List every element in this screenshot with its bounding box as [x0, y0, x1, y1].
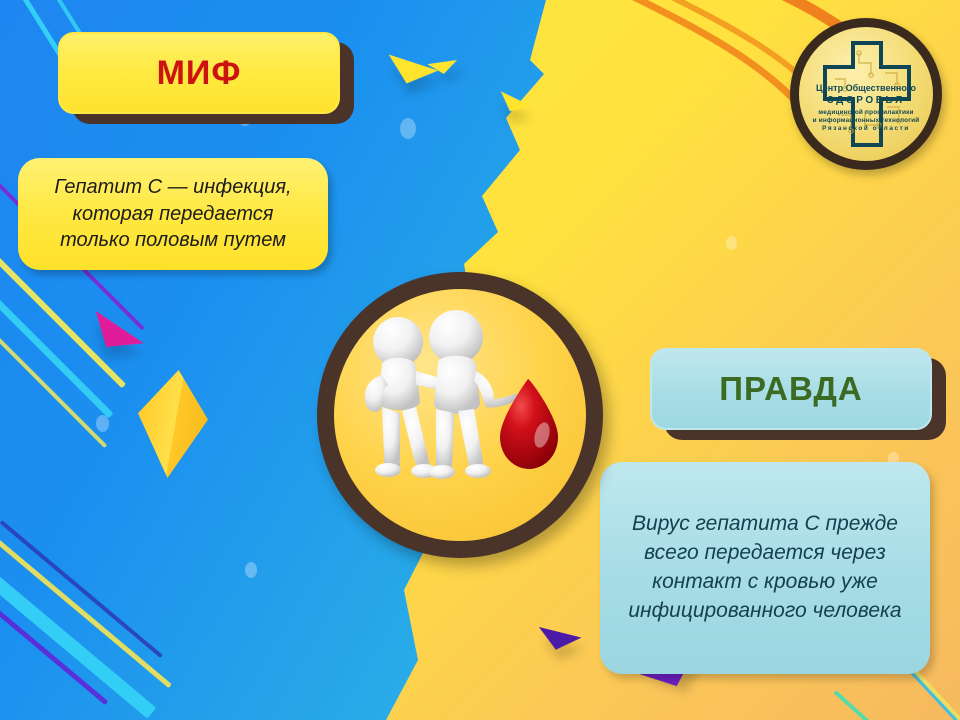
truth-title-label: ПРАВДА [719, 370, 862, 408]
blood-drop-icon [500, 379, 558, 469]
myth-plaque-face: МИФ [58, 32, 340, 114]
central-medallion [317, 272, 603, 558]
myth-text: Гепатит C — инфекция, которая передается… [36, 174, 310, 253]
truth-text: Вирус гепатита C прежде всего передается… [618, 510, 912, 626]
logo-face: Центр Общественного ЗДОРОВЬЯ медицинской… [799, 27, 933, 161]
myth-title-label: МИФ [157, 54, 242, 93]
infographic-slide: МИФ Гепатит C — инфекция, которая переда… [0, 0, 960, 720]
truth-text-card: Вирус гепатита C прежде всего передается… [600, 462, 930, 674]
myth-title-plaque: МИФ [58, 32, 340, 114]
medallion-inner-disc [334, 289, 586, 541]
organization-logo-badge: Центр Общественного ЗДОРОВЬЯ медицинской… [790, 18, 942, 170]
truth-title-plaque: ПРАВДА [650, 348, 932, 430]
people-illustration [334, 289, 586, 541]
truth-plaque-face: ПРАВДА [650, 348, 932, 430]
logo-line-2: ЗДОРОВЬЯ [804, 95, 928, 106]
logo-line-3: медицинской профилактики [804, 109, 928, 116]
logo-line-1: Центр Общественного [804, 83, 928, 93]
myth-text-card: Гепатит C — инфекция, которая передается… [18, 158, 328, 270]
logo-line-5: Рязанской области [804, 125, 928, 132]
logo-line-4: и информационных технологий [804, 117, 928, 124]
